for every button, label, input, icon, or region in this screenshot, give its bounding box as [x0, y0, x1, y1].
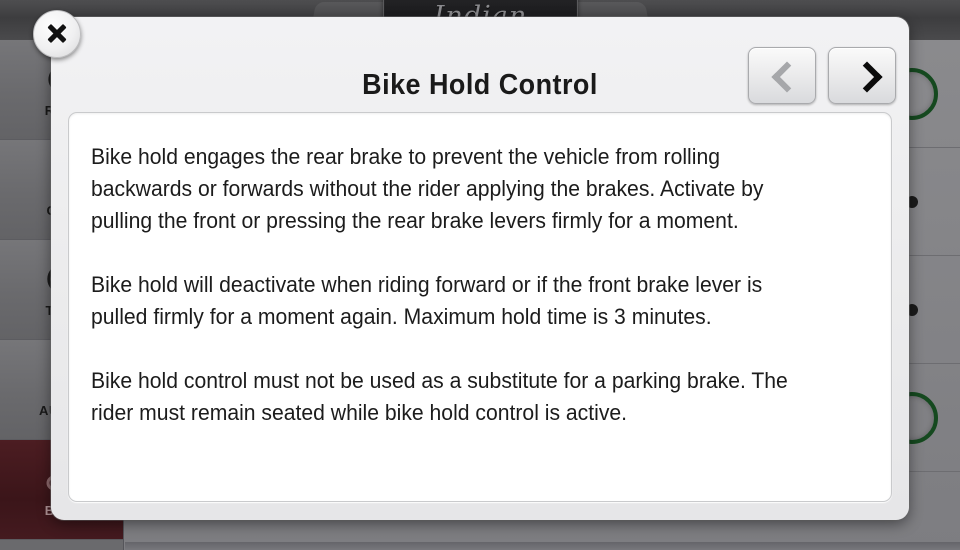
help-paragraph: Bike hold control must not be used as a …	[91, 365, 822, 429]
close-dialog-button[interactable]	[33, 10, 81, 58]
help-dialog: Bike Hold Control Bike hold engages the …	[51, 17, 909, 520]
help-paragraph: Bike hold will deactivate when riding fo…	[91, 269, 822, 333]
dialog-content-panel: Bike hold engages the rear brake to prev…	[68, 112, 892, 502]
help-paragraph: Bike hold engages the rear brake to prev…	[91, 141, 822, 237]
bottom-strip	[125, 542, 960, 550]
chevron-right-icon	[854, 61, 871, 91]
screen: Indian RIDE GEN	[0, 0, 960, 550]
close-icon	[46, 23, 68, 45]
dialog-navigation	[748, 47, 896, 104]
previous-page-button[interactable]	[748, 47, 816, 104]
next-page-button[interactable]	[828, 47, 896, 104]
chevron-left-icon	[774, 61, 791, 91]
